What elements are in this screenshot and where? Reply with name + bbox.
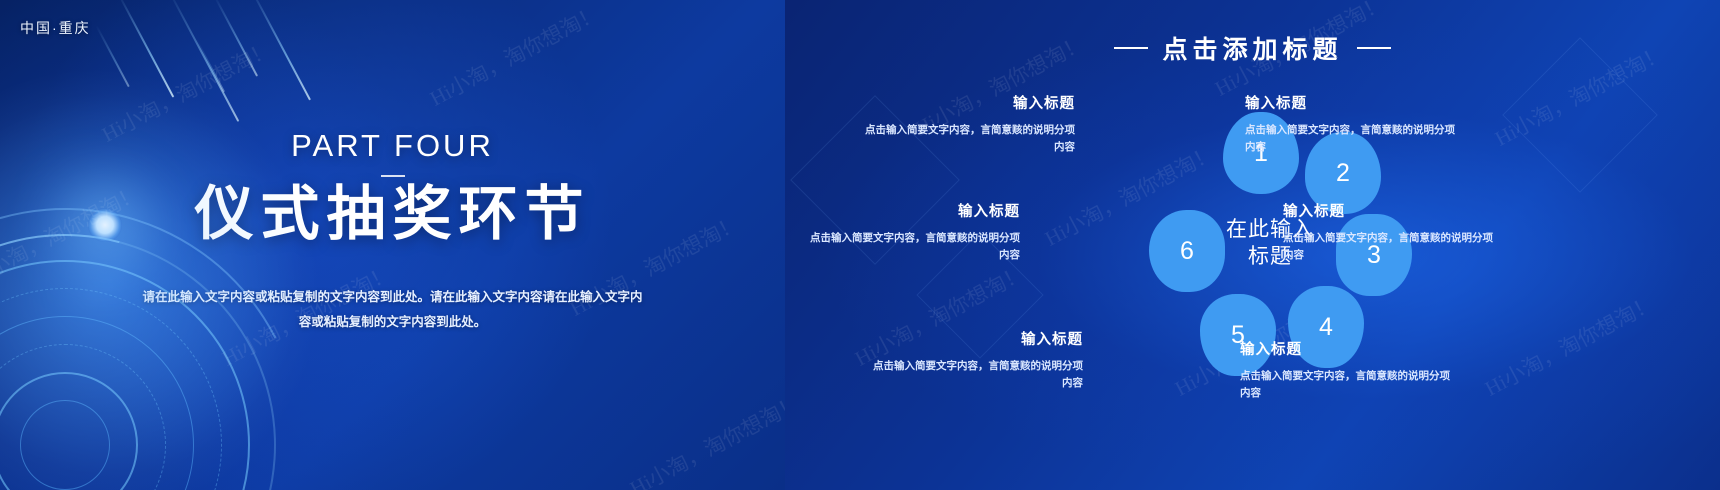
watermark: Hi小淘，淘你想淘！ (424, 0, 605, 113)
label-desc-1: 点击输入简要文字内容，言简意赅的说明分项内容 (865, 122, 1075, 157)
location-tag: 中国·重庆 (20, 18, 91, 38)
label-block-5: 输入标题 点击输入简要文字内容，言简意赅的说明分项内容 (873, 328, 1083, 393)
title-divider (381, 175, 405, 177)
watermark: Hi小淘，淘你想淘！ (624, 387, 785, 490)
slide-left: Hi小淘，淘你想淘！ Hi小淘，淘你想淘！ Hi小淘，淘你想淘！ Hi小淘，淘你… (0, 0, 785, 490)
watermark: Hi小淘，淘你想淘！ (1479, 287, 1660, 402)
section-label: PART FOUR (40, 128, 745, 164)
page-title: 仪式抽奖环节 (40, 183, 745, 247)
slide-title: 点击添加标题 (785, 30, 1720, 66)
title-dash-left (1114, 47, 1148, 49)
label-block-4: 输入标题 点击输入简要文字内容，言简意赅的说明分项内容 (1240, 338, 1450, 403)
label-heading-3: 输入标题 (1283, 200, 1493, 221)
petal-6[interactable]: 6 (1149, 210, 1225, 292)
label-block-2: 输入标题 点击输入简要文字内容，言简意赅的说明分项内容 (1245, 92, 1455, 157)
title-dash-right (1357, 47, 1391, 49)
label-desc-6: 点击输入简要文字内容，言简意赅的说明分项内容 (810, 230, 1020, 265)
slide-title-text: 点击添加标题 (1162, 36, 1342, 64)
label-desc-5: 点击输入简要文字内容，言简意赅的说明分项内容 (873, 358, 1083, 393)
label-heading-2: 输入标题 (1245, 92, 1455, 113)
label-desc-3: 点击输入简要文字内容，言简意赅的说明分项内容 (1283, 230, 1493, 265)
label-heading-6: 输入标题 (810, 200, 1020, 221)
label-block-3: 输入标题 点击输入简要文字内容，言简意赅的说明分项内容 (1283, 200, 1493, 265)
label-heading-4: 输入标题 (1240, 338, 1450, 359)
slide-right: Hi小淘，淘你想淘！ Hi小淘，淘你想淘！ Hi小淘，淘你想淘！ Hi小淘，淘你… (785, 0, 1720, 490)
label-heading-5: 输入标题 (873, 328, 1083, 349)
label-block-6: 输入标题 点击输入简要文字内容，言简意赅的说明分项内容 (810, 200, 1020, 265)
label-heading-1: 输入标题 (865, 92, 1075, 113)
left-content-block: PART FOUR 仪式抽奖环节 请在此输入文字内容或粘贴复制的文字内容到此处。… (0, 128, 785, 335)
slide-pair: Hi小淘，淘你想淘！ Hi小淘，淘你想淘！ Hi小淘，淘你想淘！ Hi小淘，淘你… (0, 0, 1720, 490)
label-block-1: 输入标题 点击输入简要文字内容，言简意赅的说明分项内容 (865, 92, 1075, 157)
label-desc-2: 点击输入简要文字内容，言简意赅的说明分项内容 (1245, 122, 1455, 157)
body-paragraph: 请在此输入文字内容或粘贴复制的文字内容到此处。请在此输入文字内容请在此输入文字内… (143, 285, 643, 335)
label-desc-4: 点击输入简要文字内容，言简意赅的说明分项内容 (1240, 368, 1450, 403)
